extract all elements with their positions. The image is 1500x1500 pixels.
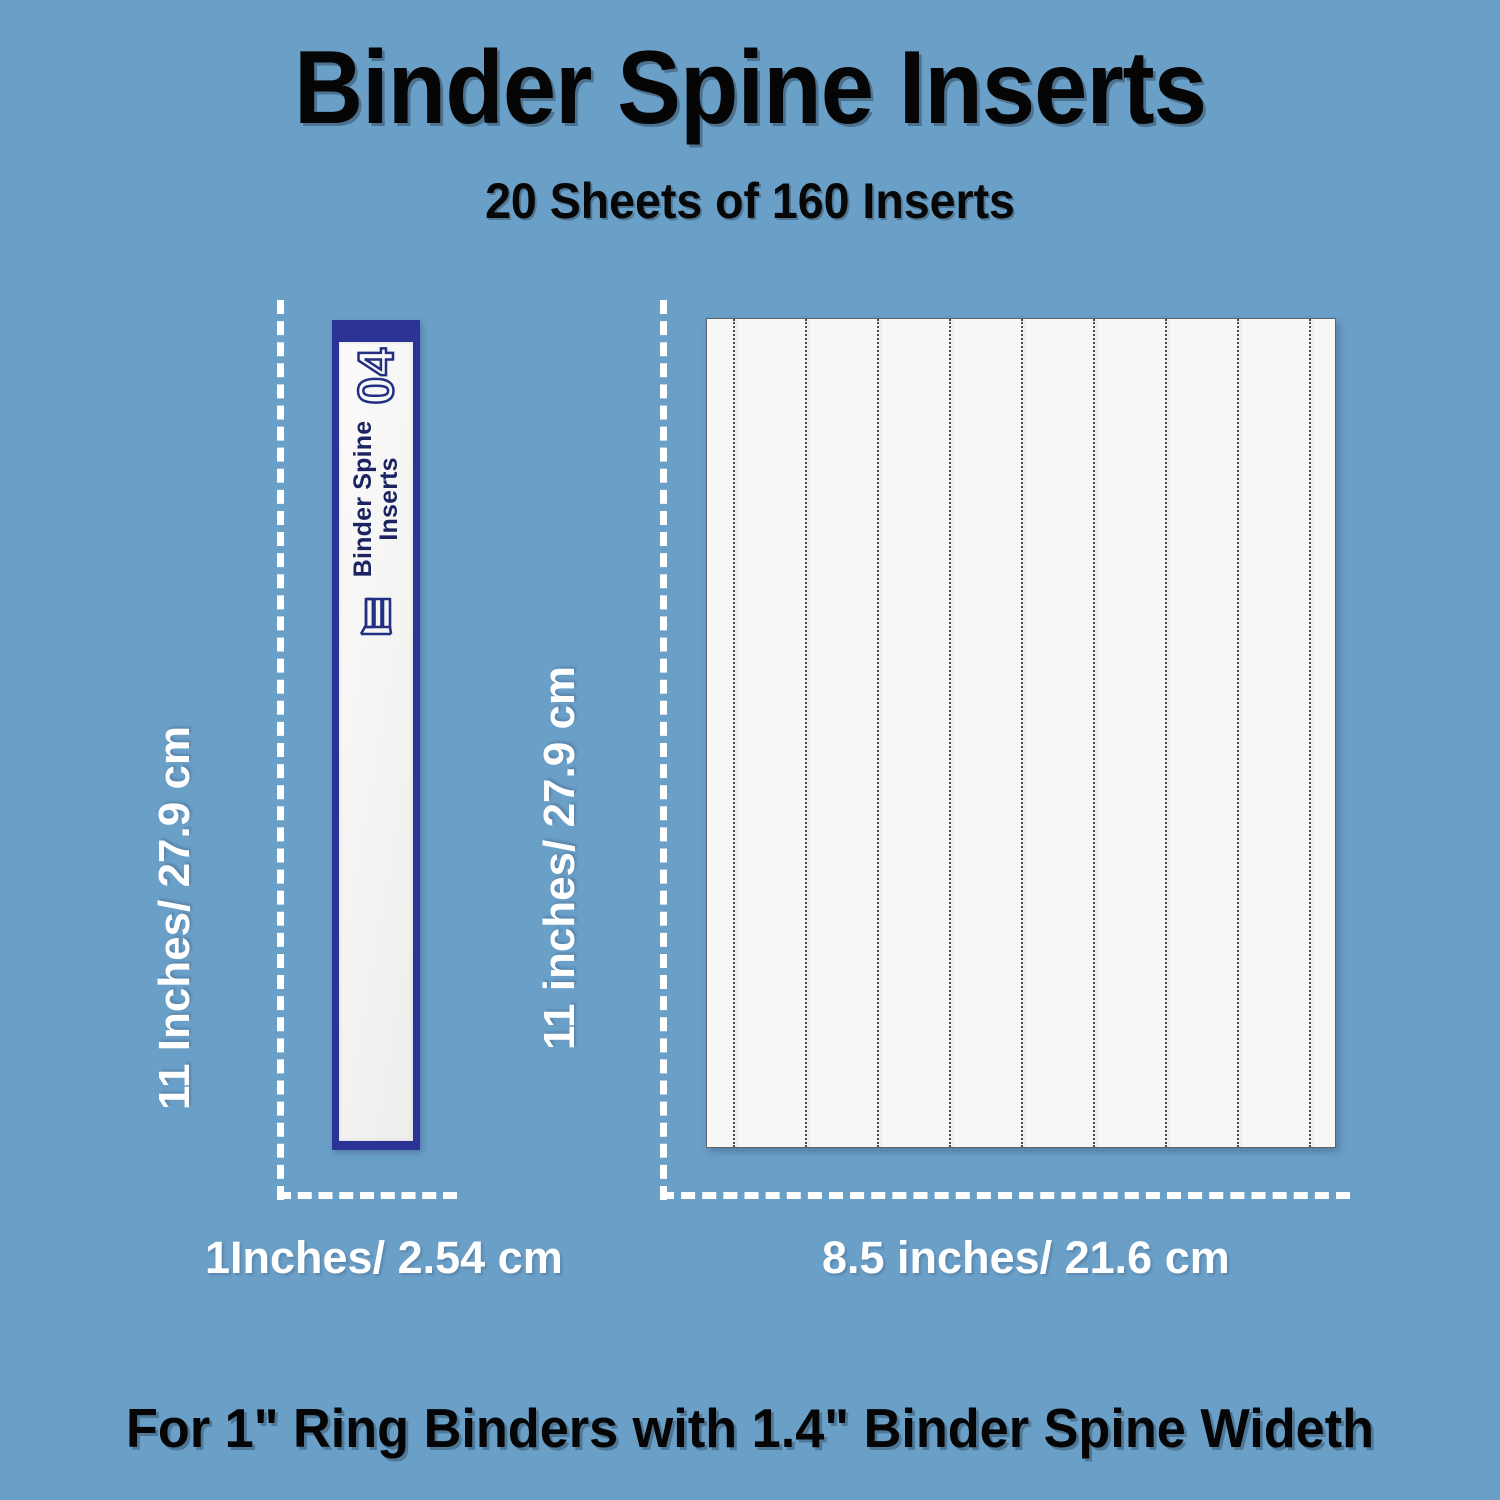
guide-line-spine-left-vertical — [277, 300, 284, 1200]
strip-shading — [807, 319, 810, 1147]
strip-shading — [1311, 319, 1314, 1147]
guide-line-spine-bottom-horizontal — [277, 1192, 457, 1199]
guide-line-sheet-left-vertical — [660, 300, 667, 1200]
spine-number-label: 04 — [351, 347, 401, 405]
strip-shading — [879, 319, 882, 1147]
strip-shading — [1167, 319, 1170, 1147]
spine-text-line1: Binder Spine — [349, 420, 377, 577]
dimension-label-spine-width: 1Inches/ 2.54 cm — [205, 1232, 563, 1284]
strip-shading — [735, 319, 738, 1147]
page-subtitle: 20 Sheets of 160 Inserts — [53, 172, 1448, 230]
strip-shading — [1023, 319, 1026, 1147]
spine-text-block: Binder Spine Inserts — [350, 420, 403, 577]
dimension-label-sheet-width: 8.5 inches/ 21.6 cm — [822, 1232, 1230, 1284]
dimension-label-sheet-height: 11 inches/ 27.9 cm — [535, 666, 585, 1050]
footer-caption: For 1" Ring Binders with 1.4" Binder Spi… — [38, 1396, 1463, 1460]
page-title: Binder Spine Inserts — [60, 34, 1440, 143]
spine-insert-face: 04 Binder Spine Inserts — [339, 342, 413, 1141]
dimension-label-spine-height: 11 Inches/ 27.9 cm — [150, 726, 200, 1110]
spine-insert-content: 04 Binder Spine Inserts — [339, 347, 413, 1137]
strip-shading — [1239, 319, 1242, 1147]
spine-insert-strip: 04 Binder Spine Inserts — [332, 320, 420, 1150]
stacked-binders-icon — [356, 593, 396, 639]
strip-shading — [951, 319, 954, 1147]
spine-text-line2: Inserts — [375, 457, 403, 540]
perforated-insert-sheet — [706, 318, 1336, 1148]
guide-line-sheet-bottom-horizontal — [660, 1192, 1350, 1199]
strip-shading — [1095, 319, 1098, 1147]
